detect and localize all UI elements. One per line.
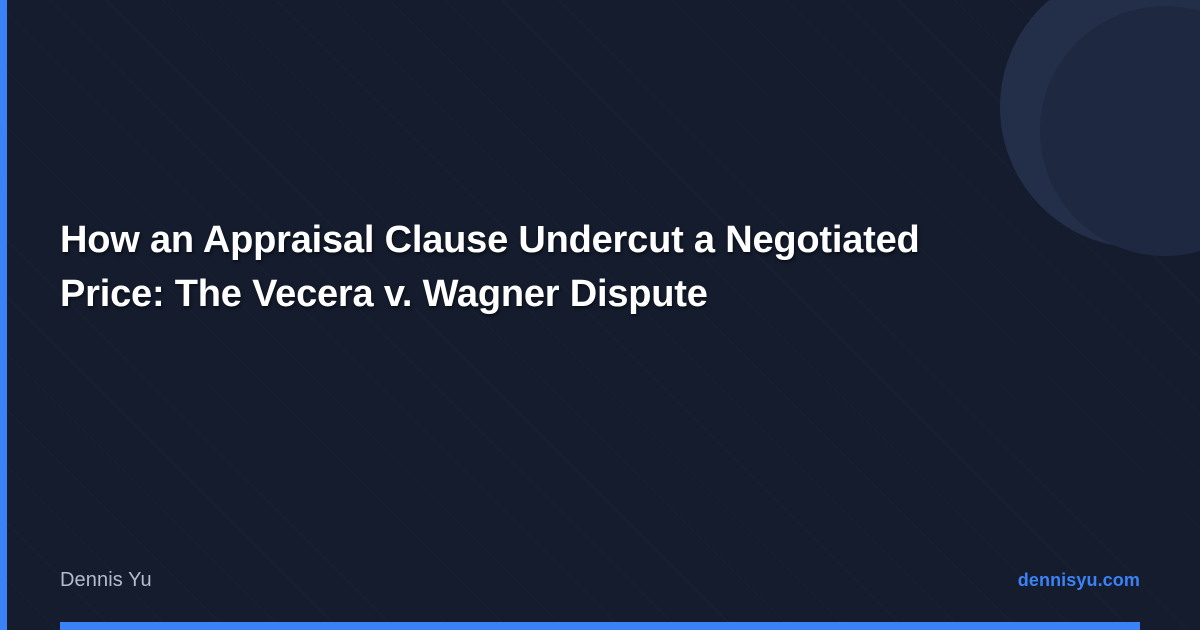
left-accent-rail bbox=[0, 0, 7, 630]
social-share-card: How an Appraisal Clause Undercut a Negot… bbox=[0, 0, 1200, 630]
decorative-ring-shape bbox=[1000, 0, 1200, 248]
page-title: How an Appraisal Clause Undercut a Negot… bbox=[60, 214, 960, 322]
card-footer: Dennis Yu dennisyu.com bbox=[60, 566, 1140, 594]
site-url-link[interactable]: dennisyu.com bbox=[1018, 570, 1140, 591]
bottom-accent-bar bbox=[60, 622, 1140, 630]
decorative-disc-shape bbox=[1040, 6, 1200, 256]
author-byline: Dennis Yu bbox=[60, 569, 152, 592]
